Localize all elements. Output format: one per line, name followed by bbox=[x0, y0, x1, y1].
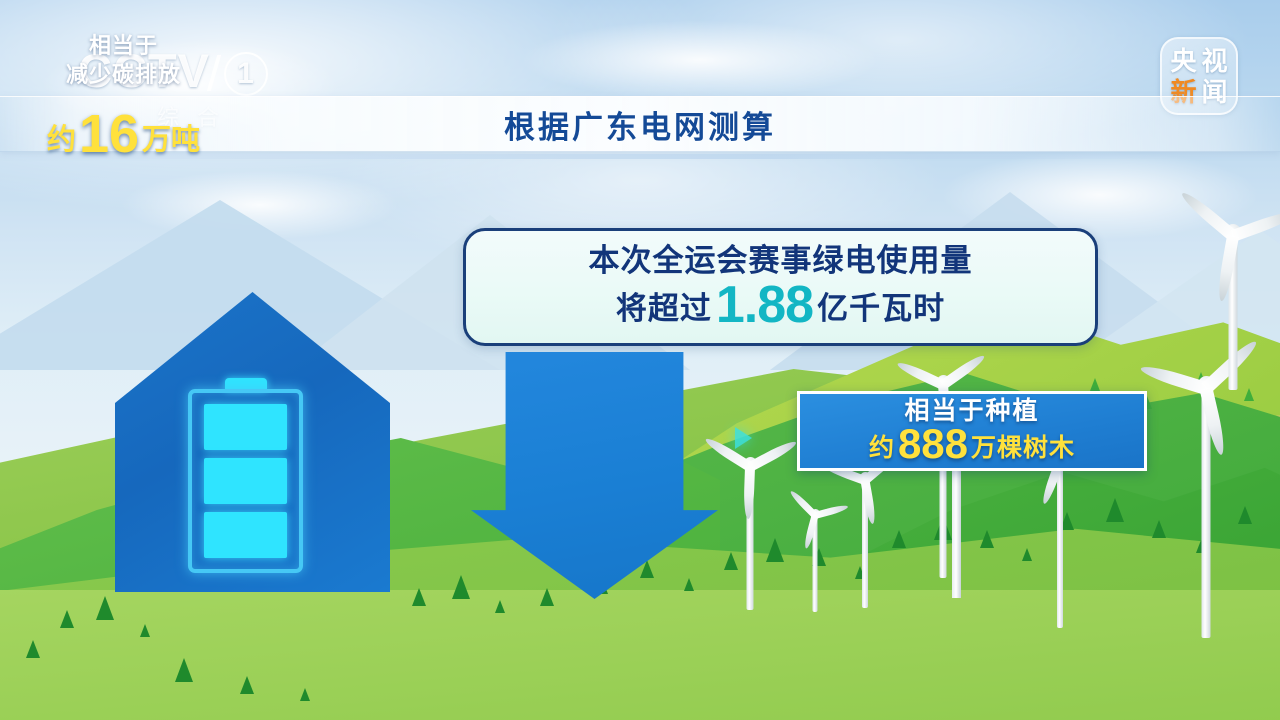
header-title: 根据广东电网测算 bbox=[504, 102, 776, 147]
tree-icon bbox=[1090, 378, 1100, 391]
main-card-prefix: 将超过 bbox=[616, 287, 712, 331]
main-card-line2: 将超过 1.88 亿千瓦时 bbox=[616, 280, 945, 331]
carbon-label-line1: 相当于 bbox=[0, 32, 247, 60]
broadcast-screen: CCTV1 综合 央 视 新 闻 根据广东电网测算 本次全运会赛事绿电使用量 将… bbox=[0, 0, 1280, 720]
wind-turbine bbox=[1188, 190, 1278, 390]
lower-third: 绿色办赛创新：首次不新建大型场馆 今晚关注 晚间新闻 bbox=[0, 550, 1280, 720]
news-logo-char-shi: 视 bbox=[1201, 48, 1227, 74]
stat-carbon-reduction-content: 相当于 减少碳排放 约 16 万吨 bbox=[0, 32, 247, 158]
news-logo-char-yang: 央 bbox=[1170, 48, 1196, 74]
carbon-value-row: 约 16 万吨 bbox=[0, 108, 247, 158]
main-card-value: 1.88 bbox=[716, 283, 813, 327]
tree-icon bbox=[892, 530, 906, 548]
tree-icon bbox=[980, 530, 994, 548]
trees-value-unit: 万棵树木 bbox=[971, 431, 1075, 465]
carbon-value-prefix: 约 bbox=[47, 116, 76, 158]
carbon-value-unit: 万吨 bbox=[142, 116, 200, 158]
trees-value-prefix: 约 bbox=[869, 431, 895, 465]
trees-value-row: 约 888 万棵树木 bbox=[869, 425, 1075, 465]
tree-icon bbox=[1106, 498, 1124, 522]
main-card-line1: 本次全运会赛事绿电使用量 bbox=[589, 243, 973, 279]
carbon-label-line2: 减少碳排放 bbox=[0, 60, 247, 90]
battery-segment bbox=[204, 404, 287, 450]
trees-value: 888 bbox=[898, 427, 968, 461]
battery-body bbox=[188, 389, 303, 573]
stat-trees-planted: 相当于种植 约 888 万棵树木 bbox=[797, 391, 1147, 471]
battery-segment bbox=[204, 458, 287, 504]
main-card-unit: 亿千瓦时 bbox=[817, 287, 945, 331]
main-stat-card: 本次全运会赛事绿电使用量 将超过 1.88 亿千瓦时 bbox=[463, 228, 1098, 346]
carbon-value: 16 bbox=[79, 111, 139, 157]
battery-full-icon bbox=[188, 378, 303, 573]
